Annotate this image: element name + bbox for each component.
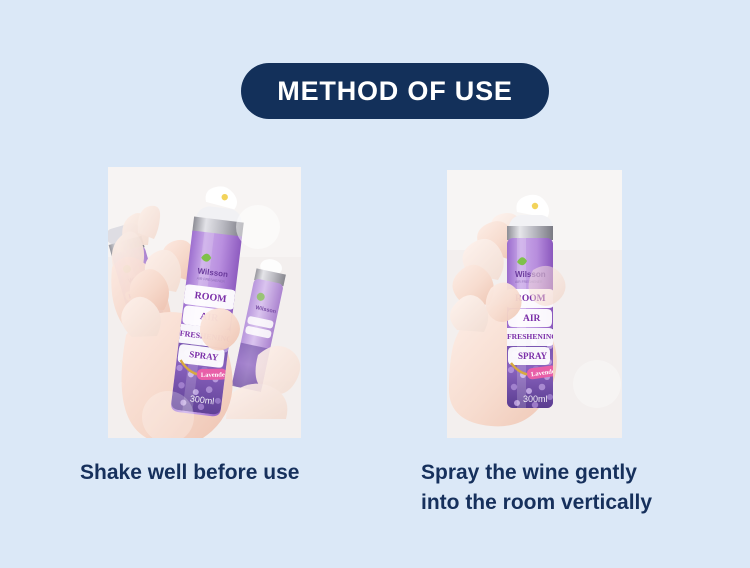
product-illustration-single-can: Wilsson AIR FRESHENER ROOM AIR FRESHENIN… [447,170,622,438]
svg-text:FRESHENING: FRESHENING [507,332,557,341]
svg-text:300ml: 300ml [523,394,548,404]
page-title: METHOD OF USE [277,78,512,105]
svg-text:Lavender: Lavender [201,371,228,378]
page-root: METHOD OF USE [0,0,750,568]
header-banner: METHOD OF USE [241,63,549,119]
step-1-photo: Wilsson ROOM AIR [108,167,301,438]
product-illustration-multi-can: Wilsson ROOM AIR [108,167,301,438]
step-1-caption: Shake well before use [80,458,380,488]
step-1-block: Wilsson ROOM AIR [108,167,301,438]
svg-text:AIR: AIR [523,314,541,324]
step-2-caption: Spray the wine gently into the room vert… [421,458,721,518]
step-2-photo: Wilsson AIR FRESHENER ROOM AIR FRESHENIN… [447,170,622,438]
step-2-block: Wilsson AIR FRESHENER ROOM AIR FRESHENIN… [447,170,622,438]
svg-text:SPRAY: SPRAY [518,351,548,361]
